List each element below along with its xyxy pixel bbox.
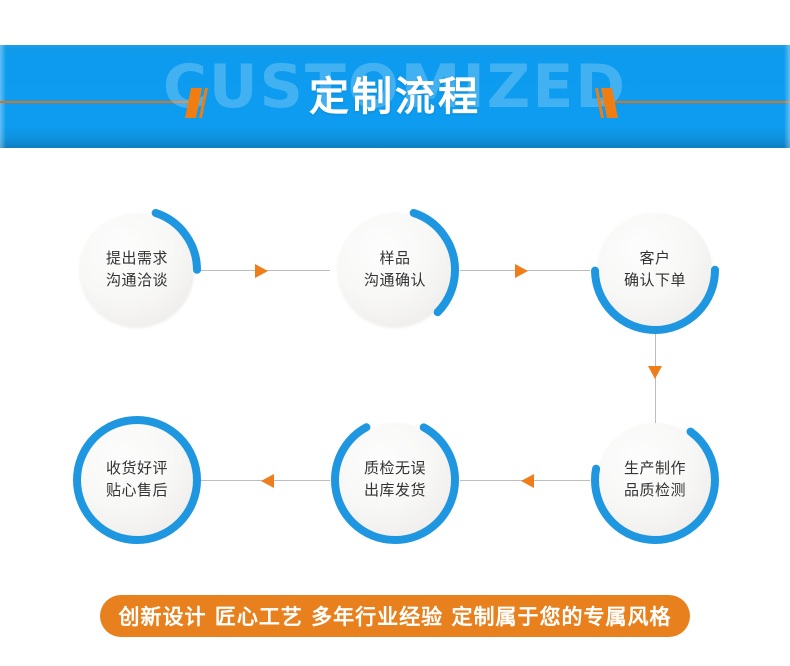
flow-step-6-label: 收货好评 贴心售后 <box>72 415 202 545</box>
flow-step-5-label: 质检无误 出库发货 <box>330 415 460 545</box>
flow-step-6-line1: 收货好评 <box>106 458 168 480</box>
arrow-step2-step3-icon <box>515 264 528 278</box>
flow-step-3[interactable]: 客户 确认下单 <box>590 205 720 335</box>
flow-step-6-line2: 贴心售后 <box>106 480 168 502</box>
flow-step-4-label: 生产制作 品质检测 <box>590 415 720 545</box>
flow-step-2-label: 样品 沟通确认 <box>330 205 460 335</box>
flow-step-5-line1: 质检无误 <box>364 458 426 480</box>
flow-step-1-line1: 提出需求 <box>106 248 168 270</box>
flow-step-2-line2: 沟通确认 <box>364 270 426 292</box>
flow-step-3-line2: 确认下单 <box>624 270 686 292</box>
flow-step-1[interactable]: 提出需求 沟通洽谈 <box>72 205 202 335</box>
arrow-step5-step6-icon <box>261 474 274 488</box>
footer-tagline-text: 创新设计 匠心工艺 多年行业经验 定制属于您的专属风格 <box>119 601 672 631</box>
flow-step-5[interactable]: 质检无误 出库发货 <box>330 415 460 545</box>
arrow-step1-step2-icon <box>255 264 268 278</box>
arrow-step4-step5-icon <box>521 474 534 488</box>
flow-step-3-line1: 客户 <box>639 248 670 270</box>
arrow-step3-step4-icon <box>648 366 662 379</box>
flow-step-4[interactable]: 生产制作 品质检测 <box>590 415 720 545</box>
flow-step-4-line2: 品质检测 <box>624 480 686 502</box>
flow-step-5-line2: 出库发货 <box>364 480 426 502</box>
flow-step-2[interactable]: 样品 沟通确认 <box>330 205 460 335</box>
process-flow-diagram: 提出需求 沟通洽谈 样品 沟通确认 客户 确认下单 生产制作 品 <box>0 148 790 578</box>
flow-step-6[interactable]: 收货好评 贴心售后 <box>72 415 202 545</box>
footer-tagline-banner: 创新设计 匠心工艺 多年行业经验 定制属于您的专属风格 <box>100 595 690 637</box>
flow-step-1-line2: 沟通洽谈 <box>106 270 168 292</box>
flow-step-3-label: 客户 确认下单 <box>590 205 720 335</box>
page-title: 定制流程 <box>0 77 790 117</box>
flow-step-4-line1: 生产制作 <box>624 458 686 480</box>
flow-step-2-line1: 样品 <box>379 248 410 270</box>
header-banner: CUSTOMIZED 定制流程 <box>0 45 790 148</box>
flow-step-1-label: 提出需求 沟通洽谈 <box>72 205 202 335</box>
connector-step3-step4 <box>655 334 656 424</box>
